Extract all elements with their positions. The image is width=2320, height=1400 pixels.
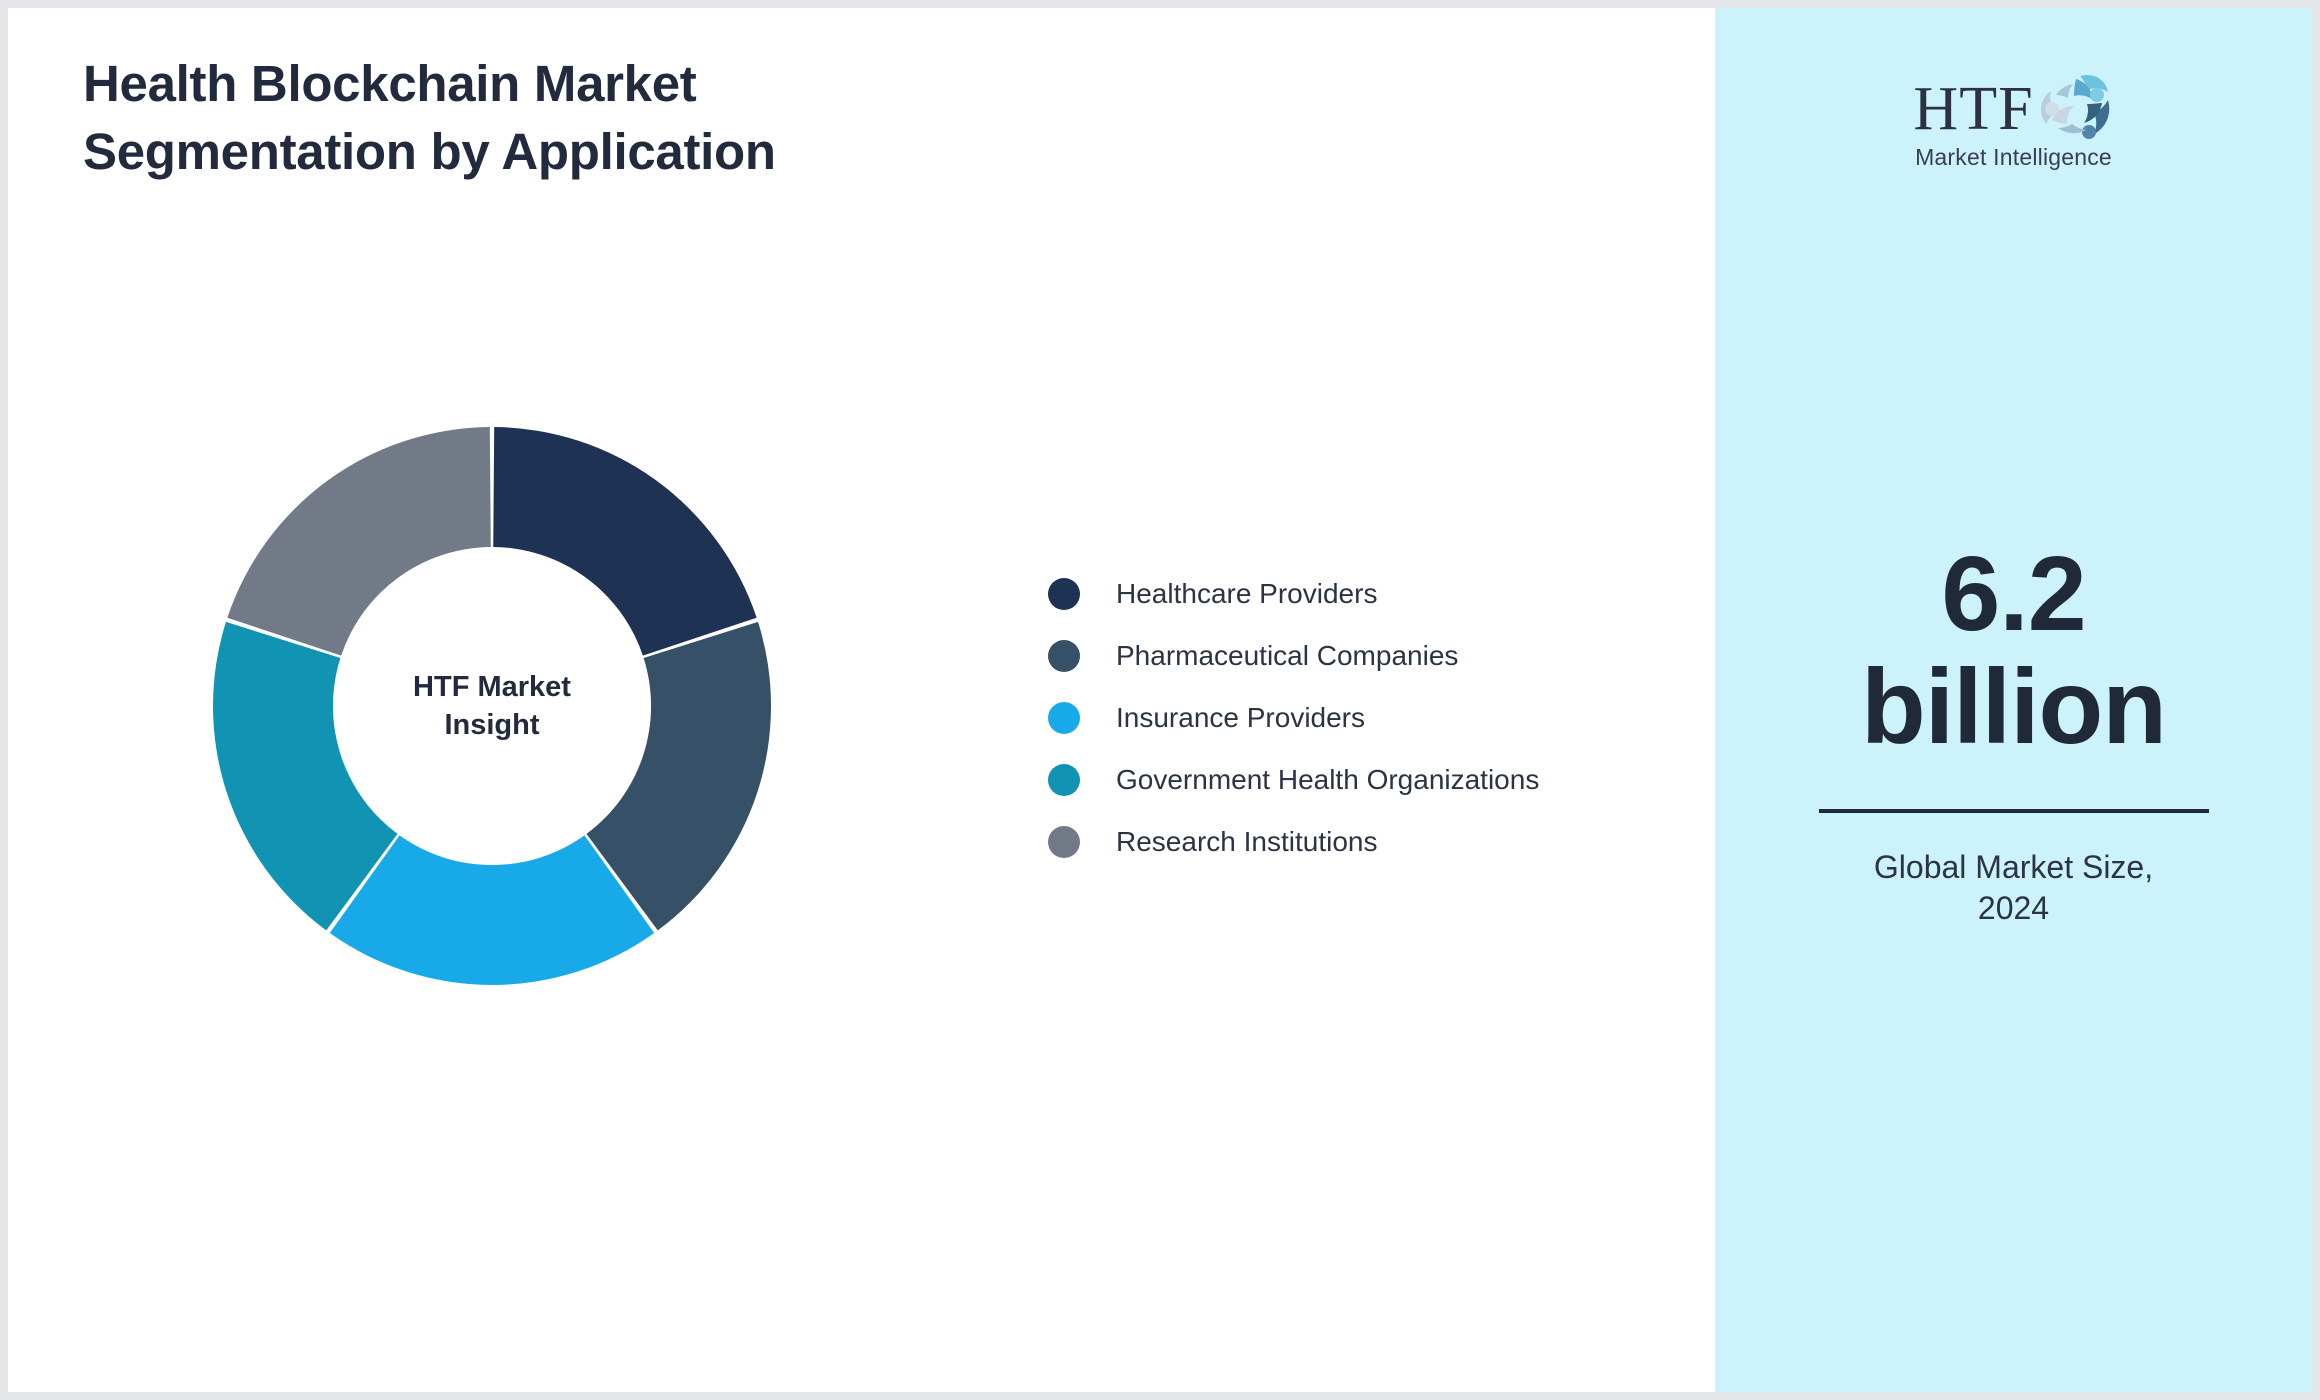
legend-swatch-icon xyxy=(1048,826,1080,858)
legend-swatch-icon xyxy=(1048,640,1080,672)
brand-logo-wordmark: HTF xyxy=(1913,78,2033,140)
legend-item-label: Research Institutions xyxy=(1116,826,1377,858)
stat-caption-line-2: 2024 xyxy=(1775,888,2252,929)
htf-three-figures-emblem-icon xyxy=(2036,70,2114,149)
legend-item-government-health-organizations[interactable]: Government Health Organizations xyxy=(1048,749,1539,811)
stat-value-line-2: billion xyxy=(1715,651,2312,764)
legend-item-research-institutions[interactable]: Research Institutions xyxy=(1048,811,1539,873)
infographic-canvas: Health Blockchain Market Segmentation by… xyxy=(0,0,2320,1400)
legend-swatch-icon xyxy=(1048,702,1080,734)
legend-swatch-icon xyxy=(1048,578,1080,610)
legend-item-label: Government Health Organizations xyxy=(1116,764,1539,796)
donut-slice-group xyxy=(213,427,771,985)
brand-logo-subtitle: Market Intelligence xyxy=(1915,144,2112,171)
donut-chart: HTF Market Insight xyxy=(213,427,771,985)
stat-value-line-1: 6.2 xyxy=(1715,538,2312,651)
legend-item-label: Pharmaceutical Companies xyxy=(1116,640,1458,672)
legend-swatch-icon xyxy=(1048,764,1080,796)
stat-divider xyxy=(1819,809,2209,813)
chart-legend: Healthcare Providers Pharmaceutical Comp… xyxy=(1048,563,1539,873)
donut-chart-svg xyxy=(213,427,771,985)
brand-logo-top: HTF xyxy=(1913,70,2113,148)
chart-panel: Health Blockchain Market Segmentation by… xyxy=(0,0,1715,1400)
page-title: Health Blockchain Market Segmentation by… xyxy=(83,50,983,186)
legend-item-insurance-providers[interactable]: Insurance Providers xyxy=(1048,687,1539,749)
donut-slice[interactable] xyxy=(227,427,490,656)
legend-item-healthcare-providers[interactable]: Healthcare Providers xyxy=(1048,563,1539,625)
global-market-size-stat: 6.2 billion Global Market Size, 2024 xyxy=(1715,538,2312,929)
stat-panel: HTF xyxy=(1715,0,2320,1400)
brand-logo: HTF xyxy=(1715,70,2312,171)
legend-item-label: Insurance Providers xyxy=(1116,702,1365,734)
donut-slice[interactable] xyxy=(493,427,756,656)
legend-item-label: Healthcare Providers xyxy=(1116,578,1377,610)
stat-caption: Global Market Size, 2024 xyxy=(1715,847,2312,929)
legend-item-pharmaceutical-companies[interactable]: Pharmaceutical Companies xyxy=(1048,625,1539,687)
stat-caption-line-1: Global Market Size, xyxy=(1775,847,2252,888)
